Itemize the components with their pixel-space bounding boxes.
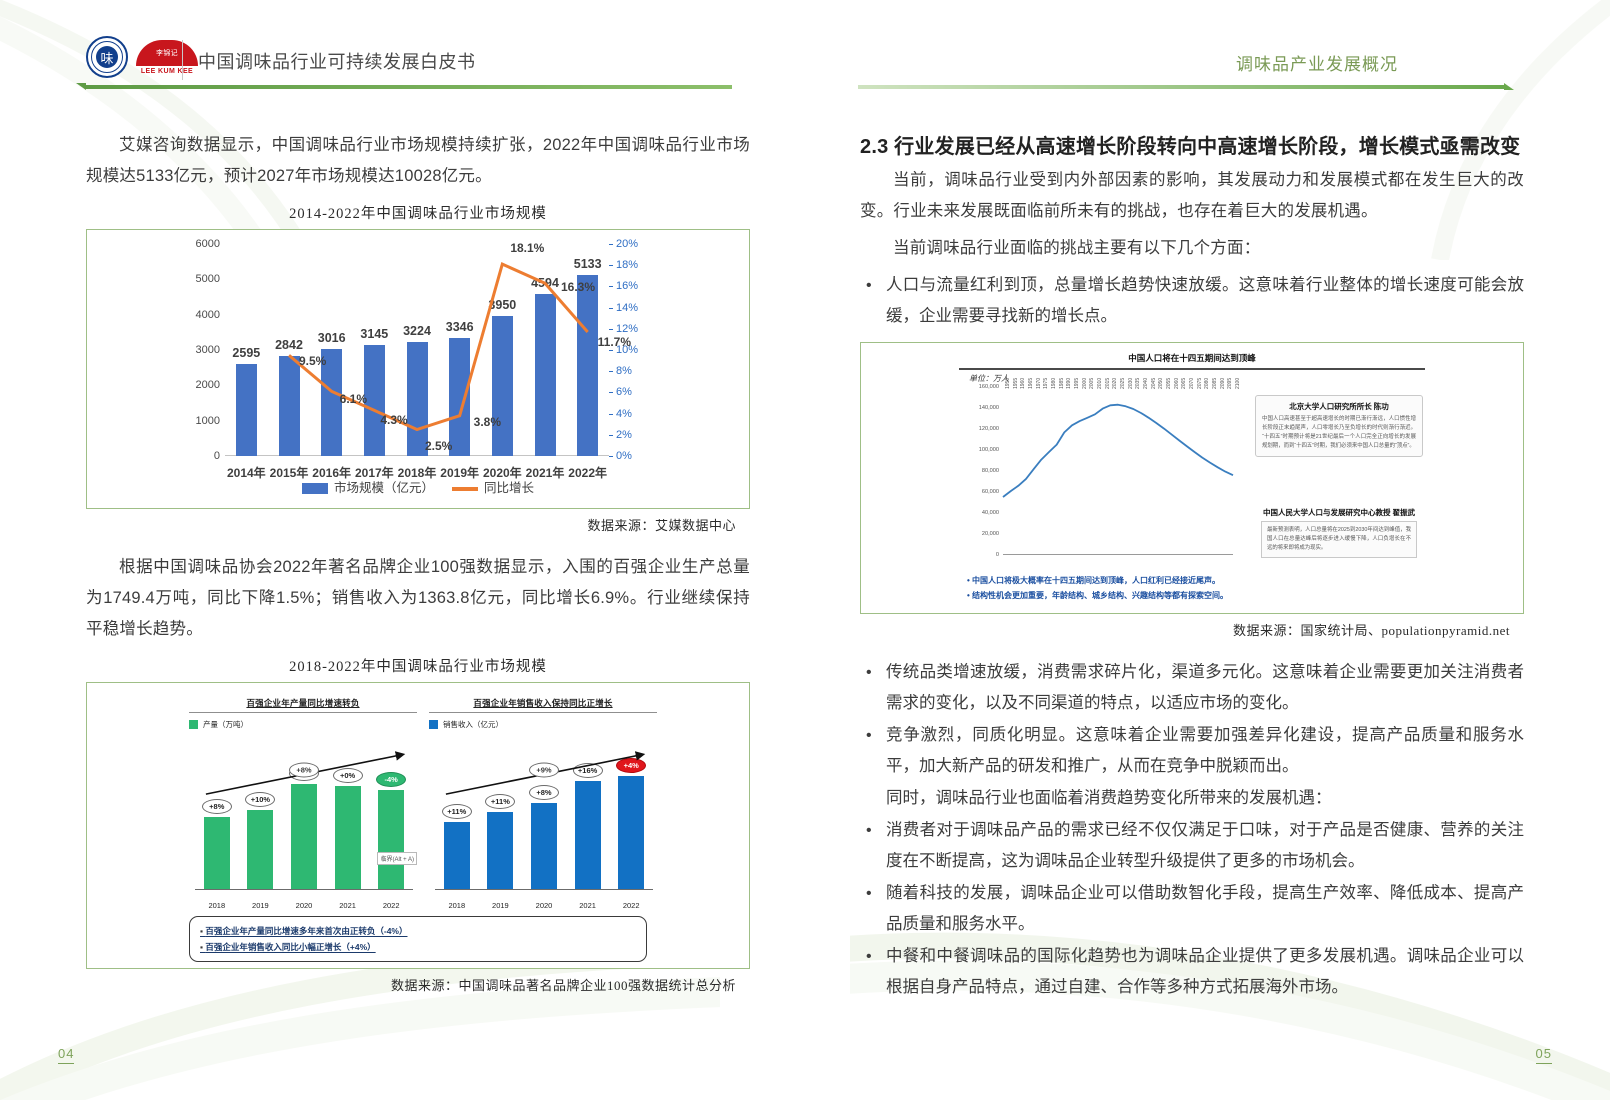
paragraph-market-size: 艾媒咨询数据显示，中国调味品行业市场规模持续扩张，2022年中国调味品行业市场规…: [86, 130, 750, 192]
bullet-digital-technology: 随着科技的发展，调味品企业可以借助数智化手段，提高生产效率、降低成本、提高产品质…: [860, 878, 1524, 940]
document-title: 中国调味品行业可持续发展白皮书: [198, 48, 476, 74]
chart3-ytick: 120,000: [979, 426, 999, 432]
chart2-xtick: 2022: [383, 901, 400, 910]
chart2-panel-revenue-legend: 销售收入（亿元）: [429, 719, 657, 730]
figure-top100: 2018-2022年中国调味品行业市场规模 百强企业年产量同比增速转负 产量（万…: [86, 655, 750, 994]
chart1-growth-label: 11.7%: [598, 335, 631, 349]
chart1-y2tick: 6%: [616, 386, 632, 398]
chart3-population-line: [1003, 387, 1233, 555]
chart1-y2tick: 8%: [616, 365, 632, 377]
bullet-competition: 竞争激烈，同质化明显。这意味着企业需要加强差异化建设，提高产品质量和服务水平，加…: [860, 720, 1524, 782]
chart2-note-2: 百强企业年销售收入同比小幅正增长（+4%）: [200, 939, 636, 955]
chapter-title: 调味品产业发展概况: [1236, 50, 1398, 75]
chart1-ytick: 5000: [196, 273, 220, 285]
lkk-latin-label: LEE KUM KEE: [136, 68, 198, 75]
lkk-arch-label: 李锦记: [156, 48, 178, 58]
chart1-growth-label: 16.3%: [561, 280, 595, 294]
section-heading-2-3: 2.3 行业发展已经从高速增长阶段转向中高速增长阶段，增长模式亟需改变: [860, 130, 1524, 159]
chart2-xtick: 2019: [492, 901, 509, 910]
chart2-tooltip: 临界(Alt + A): [377, 852, 417, 865]
figure-population: 中国人口将在十四五期间达到顶峰 单位：万人 020,00040,00060,00…: [860, 342, 1524, 639]
chart2-xtick: 2021: [579, 901, 596, 910]
chart1-ytick: 1000: [196, 415, 220, 427]
right-column: 2.3 行业发展已经从高速增长阶段转向中高速增长阶段，增长模式亟需改变 当前，调…: [860, 130, 1524, 1004]
seal-logo-icon: 味: [86, 36, 128, 78]
figure-market-size: 2014-2022年中国调味品行业市场规模 010002000300040005…: [86, 202, 750, 534]
chart2-trend-label: +8%: [289, 763, 319, 778]
legend-item-bar: 市场规模（亿元）: [302, 477, 434, 496]
chart2-xtick: 2019: [252, 901, 269, 910]
chart1-growth-label: 4.3%: [380, 413, 407, 427]
page-number-left: 04: [58, 1046, 74, 1064]
chart-market-size-2014-2022: 01000200030004000500060000%2%4%6%8%10%12…: [173, 230, 663, 508]
chart2-panel-revenue-title: 百强企业年销售收入保持同比正增长: [429, 697, 657, 709]
bullet-category-slowdown: 传统品类增速放缓，消费需求碎片化，渠道多元化。这意味着企业需要更加关注消费者需求…: [860, 657, 1524, 719]
chart1-ytick: 0: [214, 450, 220, 462]
figure2-frame: 百强企业年产量同比增速转负 产量（万吨） +8%2018+10%2019+28%…: [86, 682, 750, 969]
chart1-y2tick: 0%: [616, 450, 632, 462]
chart3-xtick: 2100: [1235, 378, 1241, 389]
chart3-note-1: 中国人口将极大概率在十四五期间达到顶峰，人口红利已经接近尾声。: [967, 573, 1228, 588]
chart1-y2tick: 12%: [616, 323, 638, 335]
lee-kum-kee-logo-icon: 李锦记 LEE KUM KEE: [136, 40, 198, 75]
chart3-note-2: 结构性机会更加重要，年龄结构、城乡结构、兴趣结构等都有探索空间。: [967, 588, 1228, 603]
figure1-frame: 01000200030004000500060000%2%4%6%8%10%12…: [86, 229, 750, 509]
chart3-ytick: 20,000: [982, 531, 999, 537]
figure3-frame: 中国人口将在十四五期间达到顶峰 单位：万人 020,00040,00060,00…: [860, 342, 1524, 614]
chart1-ytick: 3000: [196, 344, 220, 356]
chart2-xtick: 2020: [296, 901, 313, 910]
figure2-source: 数据来源：中国调味品著名品牌企业100强数据统计总分析: [86, 975, 736, 994]
page: 味 李锦记 LEE KUM KEE 中国调味品行业可持续发展白皮书 调味品产业发…: [0, 0, 1610, 1100]
challenge-bullets-bottom: 传统品类增速放缓，消费需求碎片化，渠道多元化。这意味着企业需要更加关注消费者需求…: [860, 657, 1524, 1003]
chart3-title: 中国人口将在十四五期间达到顶峰: [947, 343, 1437, 364]
chart2-note-1: 百强企业年产量同比增速多年来首次由正转负（-4%）: [200, 923, 636, 939]
chart-china-population-peak: 中国人口将在十四五期间达到顶峰 单位：万人 020,00040,00060,00…: [947, 343, 1437, 613]
chart3-ytick: 100,000: [979, 447, 999, 453]
chart1-y2tick: 14%: [616, 302, 638, 314]
challenge-bullets-top: 人口与流量红利到顶，总量增长趋势快速放缓。这意味着行业整体的增长速度可能会放缓，…: [860, 270, 1524, 332]
paragraph-challenges-intro: 当前调味品行业面临的挑战主要有以下几个方面：: [860, 233, 1524, 264]
left-column: 艾媒咨询数据显示，中国调味品行业市场规模持续扩张，2022年中国调味品行业市场规…: [86, 130, 750, 994]
page-number-right: 05: [1536, 1046, 1552, 1064]
chart1-ytick: 2000: [196, 379, 220, 391]
chart3-callout-text-1: 中国人口高速甚至于超高速增长的时期已渐行渐远，人口惯性增长阶段正末趋尾声，人口零…: [1262, 415, 1416, 451]
chart1-growth-label: 6.1%: [340, 392, 367, 406]
chart2-xtick: 2018: [208, 901, 225, 910]
bullet-population-dividend: 人口与流量红利到顶，总量增长趋势快速放缓。这意味着行业整体的增长速度可能会放缓，…: [860, 270, 1524, 332]
figure3-source: 数据来源：国家统计局、populationpyramid.net: [860, 620, 1510, 639]
chart1-y2tick: 20%: [616, 238, 638, 250]
chart1-growth-label: 18.1%: [510, 241, 544, 255]
chart1-growth-label: 3.8%: [474, 415, 501, 429]
chart2-panel-output-title: 百强企业年产量同比增速转负: [189, 697, 417, 709]
header-divider: [182, 40, 183, 80]
chart1-y2tick: 2%: [616, 429, 632, 441]
paragraph-top100: 根据中国调味品协会2022年著名品牌企业100强数据显示，入围的百强企业生产总量…: [86, 552, 750, 645]
chart3-callout-chengong: 北京大学人口研究所所长 陈功 中国人口高速甚至于超高速增长的时期已渐行渐远，人口…: [1255, 395, 1423, 457]
chart2-xtick: 2022: [623, 901, 640, 910]
paragraph-industry-change: 当前，调味品行业受到内外部因素的影响，其发展动力和发展模式都在发生巨大的改变。行…: [860, 165, 1524, 227]
chart2-xtick: 2021: [339, 901, 356, 910]
chart1-y2tick: 16%: [616, 280, 638, 292]
chart3-callout-text-2: 最新预测表明，人口总量将在2025到2030年间达到峰值，我国人口在总量达峰后将…: [1261, 521, 1417, 558]
bullet-health-nutrition: 消费者对于调味品产品的需求已经不仅仅满足于口味，对于产品是否健康、营养的关注度在…: [860, 815, 1524, 877]
figure1-caption: 2014-2022年中国调味品行业市场规模: [86, 202, 750, 223]
chart3-notes: 中国人口将极大概率在十四五期间达到顶峰，人口红利已经接近尾声。 结构性机会更加重…: [967, 573, 1228, 603]
chart1-y2tick: 18%: [616, 259, 638, 271]
chart2-notes: 百强企业年产量同比增速多年来首次由正转负（-4%） 百强企业年销售收入同比小幅正…: [189, 916, 647, 962]
figure1-source: 数据来源：艾媒数据中心: [86, 515, 736, 534]
chart3-callout-zhaizhenwu: 中国人民大学人口与发展研究中心教授 翟振武 最新预测表明，人口总量将在2025到…: [1255, 507, 1423, 563]
chart3-unit-label: 单位：万人: [969, 373, 1009, 384]
chart2-panel-output-legend: 产量（万吨）: [189, 719, 417, 730]
chart1-y2tick: 4%: [616, 408, 632, 420]
chart2-panel-output: 百强企业年产量同比增速转负 产量（万吨） +8%2018+10%2019+28%…: [189, 697, 417, 912]
chart2-panel-revenue: 百强企业年销售收入保持同比正增长 销售收入（亿元） +11%2018+11%20…: [429, 697, 657, 912]
chart3-ytick: 80,000: [982, 468, 999, 474]
chart1-growth-label: 9.5%: [299, 354, 326, 368]
header-rule: [86, 84, 1524, 90]
chart3-callout-name-1: 北京大学人口研究所所长 陈功: [1262, 401, 1416, 412]
chart1-legend: 市场规模（亿元） 同比增长: [173, 477, 663, 496]
figure2-caption: 2018-2022年中国调味品行业市场规模: [86, 655, 750, 676]
chart2-xtick: 2018: [448, 901, 465, 910]
bullet-internationalization: 中餐和中餐调味品的国际化趋势也为调味品企业提供了更多发展机遇。调味品企业可以根据…: [860, 941, 1524, 1003]
chart3-ytick: 60,000: [982, 489, 999, 495]
chart3-callout-name-2: 中国人民大学人口与发展研究中心教授 翟振武: [1261, 507, 1417, 518]
chart-top100-2018-2022: 百强企业年产量同比增速转负 产量（万吨） +8%2018+10%2019+28%…: [173, 683, 663, 968]
chart3-ytick: 0: [996, 552, 999, 558]
legend-item-line: 同比增长: [452, 477, 534, 496]
bullet-opportunity-intro: 同时，调味品行业也面临着消费趋势变化所带来的发展机遇：: [860, 783, 1524, 814]
chart2-xtick: 2020: [536, 901, 553, 910]
chart3-ytick: 40,000: [982, 510, 999, 516]
chart2-trend-label: +9%: [529, 763, 559, 778]
seal-logo-character: 味: [96, 46, 118, 68]
chart1-ytick: 6000: [196, 238, 220, 250]
chart1-growth-label: 2.5%: [425, 439, 452, 453]
chart3-ytick: 160,000: [979, 384, 999, 390]
chart3-ytick: 140,000: [979, 405, 999, 411]
chart1-ytick: 4000: [196, 309, 220, 321]
chart1-growth-line: [225, 244, 609, 456]
